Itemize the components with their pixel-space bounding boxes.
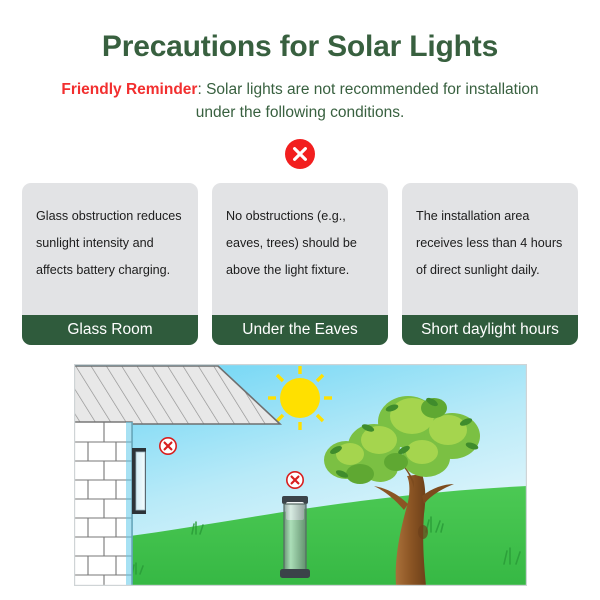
page-root: Precautions for Solar Lights Friendly Re… [0,0,600,600]
condition-card-footer: Under the Eaves [212,315,388,345]
condition-card-footer: Short daylight hours [402,315,578,345]
subtitle-rest: : Solar lights are not recommended for i… [196,81,539,121]
condition-card-body: The installation area receives less than… [402,183,578,315]
wall-mounted-light [132,448,146,514]
page-title: Precautions for Solar Lights [0,30,600,64]
condition-card: No obstructions (e.g., eaves, trees) sho… [212,183,388,345]
condition-card: Glass obstruction reduces sunlight inten… [22,183,198,345]
brick-wall [74,422,133,586]
subtitle-emphasis: Friendly Reminder [61,81,197,98]
conditions-card-list: Glass obstruction reduces sunlight inten… [22,183,578,345]
condition-card-footer: Glass Room [22,315,198,345]
bollard-path-light [280,496,310,578]
wall-light-x-badge [160,438,176,454]
condition-card-body: No obstructions (e.g., eaves, trees) sho… [212,183,388,315]
page-subtitle: Friendly Reminder: Solar lights are not … [50,78,550,124]
condition-card-body: Glass obstruction reduces sunlight inten… [22,183,198,315]
condition-card: The installation area receives less than… [402,183,578,345]
red-x-circle-icon [285,139,315,169]
solar-light-placement-illustration [74,364,527,586]
bollard-light-x-badge [287,472,303,488]
